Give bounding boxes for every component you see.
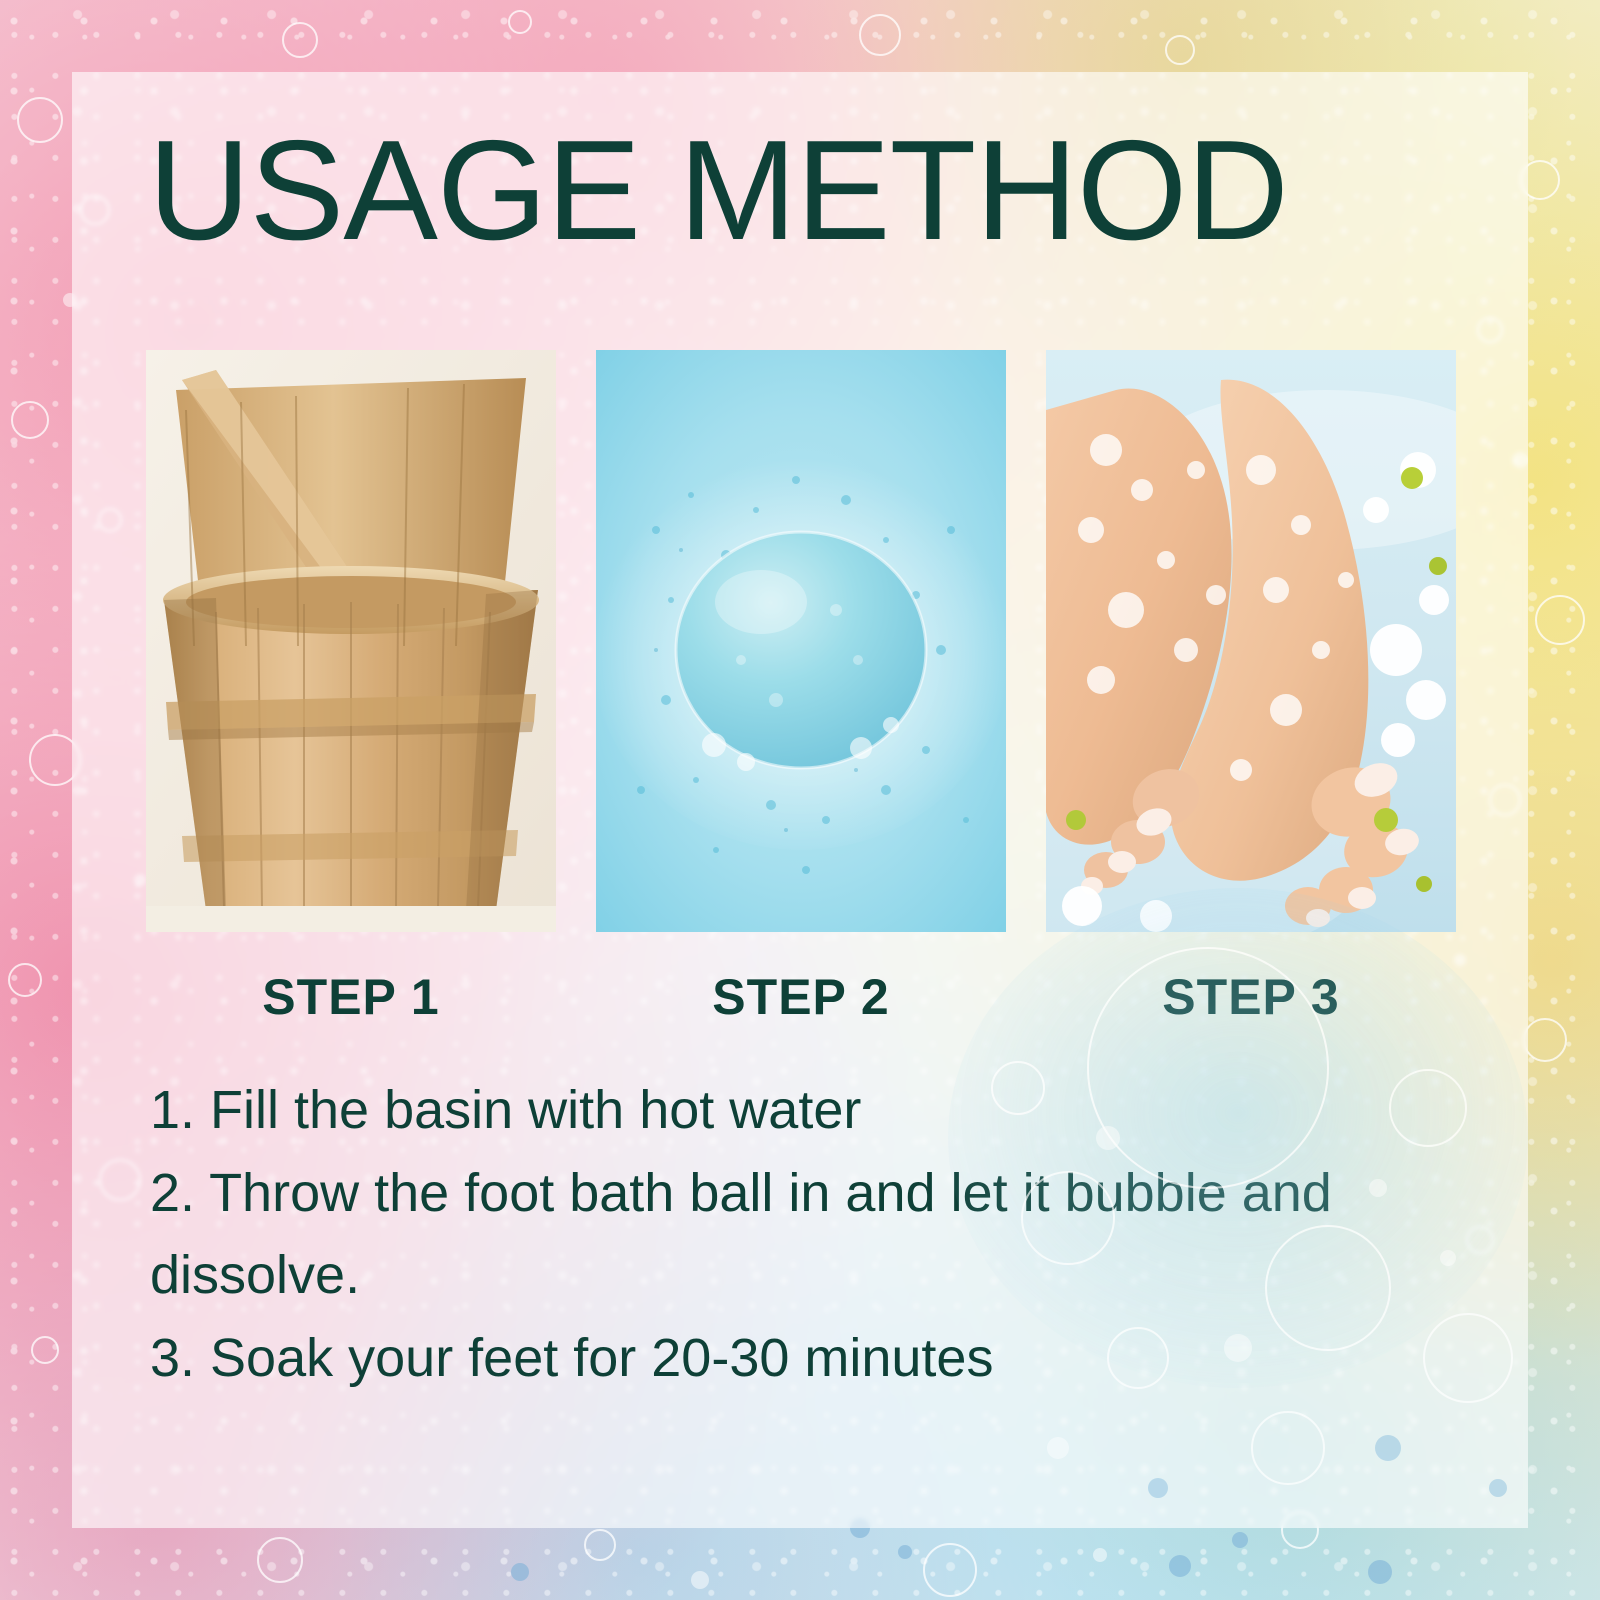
step-label: STEP 2 [596, 968, 1006, 1026]
step-item: STEP 1 [146, 350, 556, 1026]
instructions-block: 1. Fill the basin with hot water 2. Thro… [150, 1072, 1480, 1403]
feet-soaking-photo [1046, 350, 1456, 932]
usage-method-poster: USAGE METHOD [0, 0, 1600, 1600]
content-card: USAGE METHOD [72, 72, 1528, 1528]
instruction-line: 3. Soak your feet for 20-30 minutes [150, 1320, 1480, 1397]
instruction-line: dissolve. [150, 1237, 1480, 1314]
blue-bath-bomb-photo [596, 350, 1006, 932]
instruction-line: 1. Fill the basin with hot water [150, 1072, 1480, 1149]
step-label: STEP 1 [146, 968, 556, 1026]
step-label: STEP 3 [1046, 968, 1456, 1026]
step-item: STEP 3 [1046, 350, 1456, 1026]
wooden-foot-basin-photo [146, 350, 556, 932]
instruction-line: 2. Throw the foot bath ball in and let i… [150, 1155, 1480, 1232]
steps-row: STEP 1 [146, 350, 1456, 1026]
page-title: USAGE METHOD [148, 120, 1468, 262]
step-item: STEP 2 [596, 350, 1006, 1026]
